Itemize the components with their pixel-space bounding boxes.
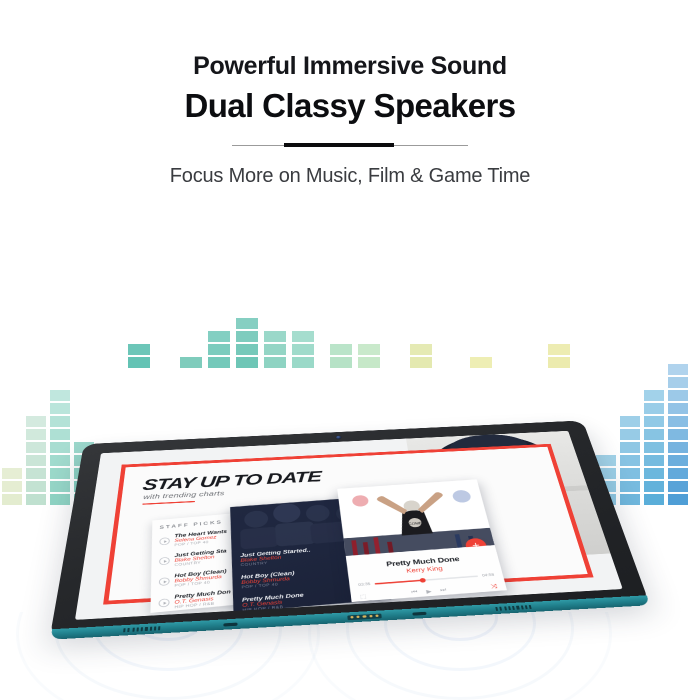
eyebrow-text: Powerful Immersive Sound xyxy=(0,52,700,81)
progress-knob[interactable] xyxy=(420,578,426,582)
tablet-screen: STAY UP TO DATE with trending charts STA… xyxy=(75,431,623,620)
next-icon[interactable]: ⏭ xyxy=(440,587,447,593)
port-slot-left xyxy=(223,622,237,626)
track-meta: The Heart WantsSelena GomezPOP / TOP 40 xyxy=(174,528,227,547)
track-meta: Just Getting StaBlake SheltonCOUNTRY xyxy=(174,548,227,568)
now-playing-card: COME + Pretty Much Done Kerry King 03:35 xyxy=(337,479,507,602)
equalizer-bar-left-1 xyxy=(26,416,46,505)
pogo-pin-connector xyxy=(347,613,382,620)
speaker-grille-left xyxy=(123,626,161,632)
previous-icon[interactable]: ⏮ xyxy=(411,590,418,596)
player-controls-panel: Pretty Much Done Kerry King 03:35 04:58 xyxy=(346,545,507,602)
transport-center: ⏮ ▶ ⏭ xyxy=(411,587,447,596)
slide-underline xyxy=(142,501,194,505)
progress-fill xyxy=(374,580,422,585)
equalizer-bar-right-3 xyxy=(668,364,688,505)
title-divider xyxy=(232,142,468,148)
tablet-device: STAY UP TO DATE with trending charts STA… xyxy=(54,330,654,640)
elapsed-time: 03:35 xyxy=(358,582,371,587)
play-icon[interactable] xyxy=(159,556,170,565)
port-slot-right xyxy=(412,611,426,615)
slide-red-frame: STAY UP TO DATE with trending charts STA… xyxy=(103,444,593,605)
repeat-icon[interactable]: ⬚ xyxy=(360,593,367,599)
speaker-grille-right xyxy=(495,605,532,611)
divider-thick-line xyxy=(284,143,394,147)
product-banner: Powerful Immersive Sound Dual Classy Spe… xyxy=(0,0,700,700)
duration-time: 04:58 xyxy=(482,573,495,578)
subtitle-text: Focus More on Music, Film & Game Time xyxy=(0,165,700,188)
track-meta: Hot Boy (Clean)Bobby ShmurdaPOP / TOP 40 xyxy=(174,568,227,589)
slide-title: STAY UP TO DATE xyxy=(141,468,321,494)
play-icon[interactable] xyxy=(159,577,170,586)
headline-block: Powerful Immersive Sound Dual Classy Spe… xyxy=(0,52,700,188)
play-icon[interactable] xyxy=(159,598,170,607)
front-camera-icon xyxy=(335,435,342,440)
play-icon[interactable]: ▶ xyxy=(426,588,432,594)
shuffle-icon[interactable]: ⤨ xyxy=(490,583,498,591)
progress-slider[interactable] xyxy=(374,575,478,584)
play-icon[interactable] xyxy=(159,537,169,545)
track-meta: Pretty Much DonO.T. GenasisHIP HOP / R&B xyxy=(175,588,232,610)
page-title: Dual Classy Speakers xyxy=(0,86,700,126)
equalizer-bar-left-0 xyxy=(2,468,22,505)
